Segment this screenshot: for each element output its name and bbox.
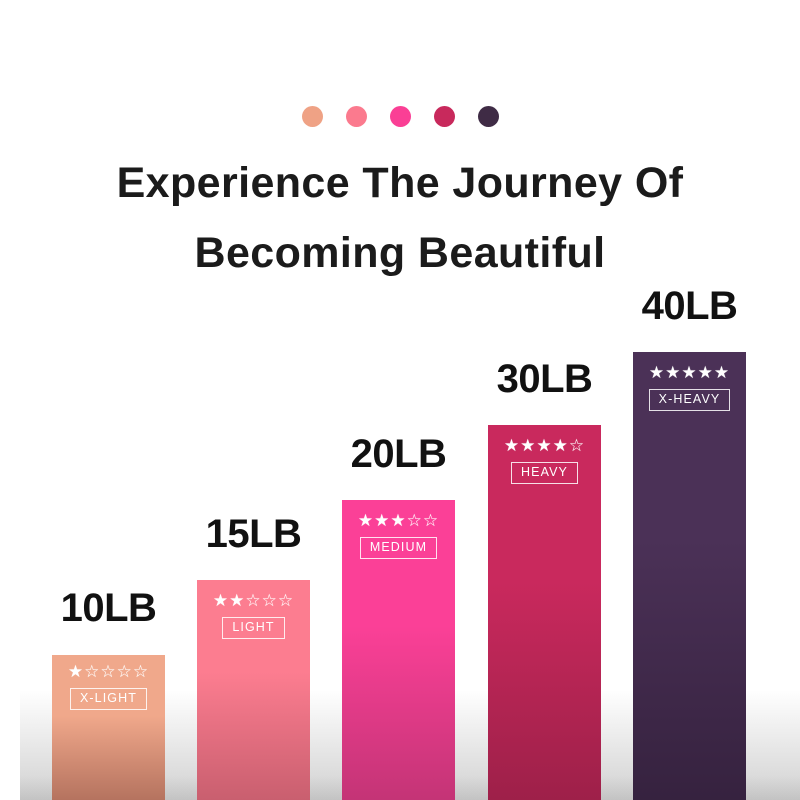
resistance-bar-chart: 10LB★☆☆☆☆X-LIGHT15LB★★☆☆☆LIGHT20LB★★★☆☆M… (0, 0, 800, 800)
bar-40lb[interactable]: 40LB★★★★★X-HEAVY (633, 352, 746, 800)
bar-30lb[interactable]: 30LB★★★★☆HEAVY (488, 425, 601, 800)
bar-15lb-tier-label: LIGHT (222, 617, 284, 639)
bar-30lb-badge: ★★★★☆HEAVY (488, 437, 601, 484)
bar-10lb-tier-label: X-LIGHT (70, 688, 147, 710)
bar-gap-shadow (165, 690, 197, 800)
bar-30lb-tier-label: HEAVY (511, 462, 578, 484)
bar-10lb-badge: ★☆☆☆☆X-LIGHT (52, 663, 165, 710)
bar-40lb-badge: ★★★★★X-HEAVY (633, 364, 746, 411)
bar-20lb-fill: ★★★☆☆MEDIUM (342, 500, 455, 800)
bar-40lb-fill: ★★★★★X-HEAVY (633, 352, 746, 800)
bar-30lb-weight-label: 30LB (497, 357, 593, 402)
bar-40lb-star-rating: ★★★★★ (649, 364, 730, 381)
bar-30lb-star-rating: ★★★★☆ (504, 437, 585, 454)
bar-20lb-star-rating: ★★★☆☆ (358, 512, 439, 529)
bar-10lb-weight-label: 10LB (61, 586, 157, 631)
bar-40lb-tier-label: X-HEAVY (649, 389, 731, 411)
bar-10lb-star-rating: ★☆☆☆☆ (68, 663, 149, 680)
bar-30lb-fill: ★★★★☆HEAVY (488, 425, 601, 800)
bar-15lb-fill: ★★☆☆☆LIGHT (197, 580, 310, 800)
bar-40lb-weight-label: 40LB (642, 284, 738, 329)
bar-gap-shadow (601, 690, 633, 800)
bar-10lb-fill: ★☆☆☆☆X-LIGHT (52, 655, 165, 800)
bar-20lb-badge: ★★★☆☆MEDIUM (342, 512, 455, 559)
bar-20lb-tier-label: MEDIUM (360, 537, 437, 559)
bar-gap-shadow (455, 690, 488, 800)
bar-10lb[interactable]: 10LB★☆☆☆☆X-LIGHT (52, 655, 165, 800)
bar-gap-shadow (746, 690, 800, 800)
bar-gap-shadow (20, 690, 52, 800)
bar-15lb-badge: ★★☆☆☆LIGHT (197, 592, 310, 639)
bar-15lb-star-rating: ★★☆☆☆ (213, 592, 294, 609)
bar-20lb[interactable]: 20LB★★★☆☆MEDIUM (342, 500, 455, 800)
bar-15lb-weight-label: 15LB (206, 512, 302, 557)
bar-20lb-weight-label: 20LB (351, 432, 447, 477)
infographic-canvas: Experience The Journey Of Becoming Beaut… (0, 0, 800, 800)
bar-gap-shadow (310, 690, 342, 800)
bar-15lb[interactable]: 15LB★★☆☆☆LIGHT (197, 580, 310, 800)
